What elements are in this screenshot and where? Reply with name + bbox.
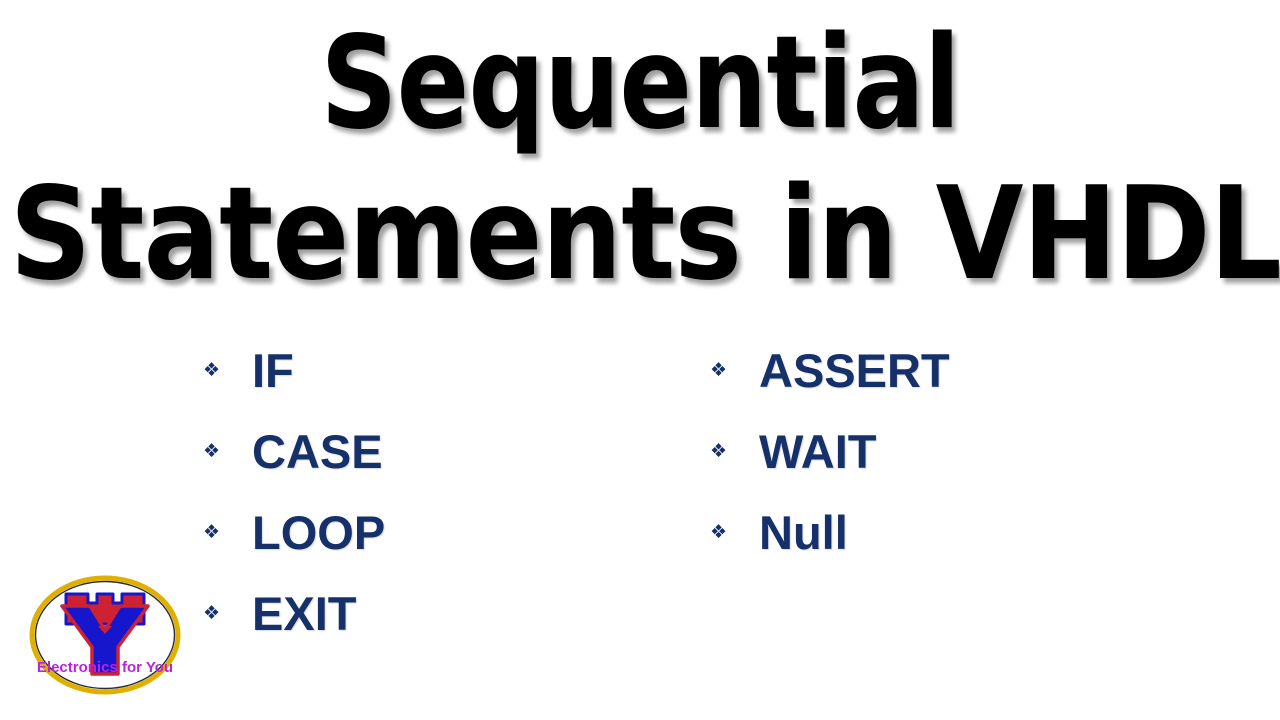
list-item-label: WAIT <box>759 428 876 475</box>
list-item[interactable]: ❖ ASSERT <box>707 330 950 411</box>
list-item-label: IF <box>252 347 294 394</box>
list-item-label: LOOP <box>252 509 385 556</box>
diamond-bullet-icon: ❖ <box>200 442 252 461</box>
diamond-bullet-icon: ❖ <box>200 604 252 623</box>
list-item[interactable]: ❖ IF <box>200 330 385 411</box>
list-item[interactable]: ❖ Null <box>707 492 950 573</box>
diamond-bullet-icon: ❖ <box>707 361 759 380</box>
list-item-label: ASSERT <box>759 347 950 394</box>
list-item[interactable]: ❖ WAIT <box>707 411 950 492</box>
list-item[interactable]: ❖ LOOP <box>200 492 385 573</box>
electronics-for-you-logo[interactable]: Electronics for You <box>28 574 182 696</box>
list-item[interactable]: ❖ EXIT <box>200 573 385 654</box>
list-item-label: EXIT <box>252 590 356 637</box>
bullet-column-left: ❖ IF ❖ CASE ❖ LOOP ❖ EXIT <box>200 330 385 654</box>
diamond-bullet-icon: ❖ <box>707 523 759 542</box>
page-title: Sequential Statements in VHDL <box>0 0 1280 310</box>
diamond-bullet-icon: ❖ <box>200 523 252 542</box>
diamond-bullet-icon: ❖ <box>200 361 252 380</box>
bullet-columns: ❖ IF ❖ CASE ❖ LOOP ❖ EXIT ❖ ASSERT <box>0 330 1280 640</box>
logo-caption: Electronics for You <box>37 659 173 676</box>
list-item[interactable]: ❖ CASE <box>200 411 385 492</box>
title-line-1: Sequential <box>45 0 1235 160</box>
list-item-label: CASE <box>252 428 383 475</box>
diamond-bullet-icon: ❖ <box>707 442 759 461</box>
bullet-column-right: ❖ ASSERT ❖ WAIT ❖ Null <box>707 330 950 573</box>
list-item-label: Null <box>759 509 848 556</box>
title-line-2: Statements in VHDL <box>10 160 1271 310</box>
slide-canvas: Sequential Statements in VHDL ❖ IF ❖ CAS… <box>0 0 1280 720</box>
